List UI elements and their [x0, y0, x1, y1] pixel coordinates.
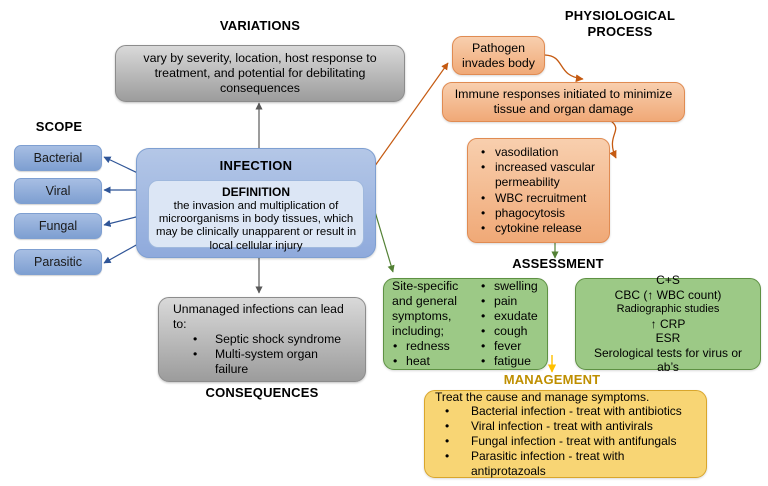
scope-item-label: Bacterial	[15, 151, 101, 165]
scope-item-bacterial[interactable]: Bacterial	[14, 145, 102, 171]
scope-item-viral[interactable]: Viral	[14, 178, 102, 204]
scope-item-label: Fungal	[15, 219, 101, 233]
test-item: ↑ CRP	[582, 317, 754, 332]
variations-box: vary by severity, location, host respons…	[115, 45, 405, 102]
list-item: vasodilation	[478, 145, 599, 160]
list-item: heat	[392, 354, 476, 369]
arrow-immune-to-inflammatory	[611, 121, 616, 158]
list-item: Septic shock syndrome	[193, 332, 351, 347]
test-item: Serological tests for virus or ab’s	[582, 346, 754, 375]
consequences-intro: Unmanaged infections can lead to:	[173, 302, 351, 332]
assessment-symptoms-right-column: swelling pain exudate cough fever fatigu…	[480, 279, 538, 370]
variations-label: VARIATIONS	[175, 18, 345, 33]
physiological-process-label-line1: PHYSIOLOGICAL	[520, 8, 720, 23]
scope-label: SCOPE	[14, 119, 104, 134]
management-content: Treat the cause and manage symptoms. Bac…	[425, 390, 706, 479]
definition-box: DEFINITION the invasion and multiplicati…	[148, 180, 364, 248]
list-item: Multi-system organ failure	[193, 347, 351, 377]
test-item: Radiographic studies	[582, 302, 754, 317]
arrow-infection-to-symptoms	[373, 205, 393, 272]
assessment-symptoms-right-list: swelling pain exudate cough fever fatigu…	[480, 279, 538, 370]
list-item: Fungal infection - treat with antifungal…	[435, 434, 696, 449]
list-item: fatigue	[480, 354, 538, 369]
list-item: fever	[480, 339, 538, 354]
scope-item-fungal[interactable]: Fungal	[14, 213, 102, 239]
list-item: exudate	[480, 309, 538, 324]
list-item: Parasitic infection - treat with antipro…	[435, 449, 696, 479]
test-item: C+S	[582, 273, 754, 288]
immune-response-text: Immune responses initiated to minimize t…	[443, 87, 684, 116]
list-item: increased vascular permeability	[478, 160, 599, 190]
scope-item-parasitic[interactable]: Parasitic	[14, 249, 102, 275]
test-item: ESR	[582, 331, 754, 346]
management-label: MANAGEMENT	[472, 372, 632, 387]
consequences-list: Septic shock syndrome Multi-system organ…	[173, 332, 351, 377]
list-item: Bacterial infection - treat with antibio…	[435, 404, 696, 419]
definition-title: DEFINITION	[222, 185, 290, 199]
assessment-symptoms-left-list: redness heat	[392, 339, 476, 369]
arrow-pathogen-to-immune	[545, 55, 583, 79]
variations-text: vary by severity, location, host respons…	[116, 51, 404, 96]
list-item: pain	[480, 294, 538, 309]
list-item: redness	[392, 339, 476, 354]
inflammatory-effects-list: vasodilation increased vascular permeabi…	[468, 145, 609, 236]
list-item: cytokine release	[478, 221, 599, 236]
scope-item-label: Parasitic	[15, 255, 101, 269]
assessment-tests-box: C+S CBC (↑ WBC count) Radiographic studi…	[575, 278, 761, 370]
assessment-symptoms-intro: Site-specific and general symptoms, incl…	[392, 279, 476, 339]
infection-box: INFECTION DEFINITION the invasion and mu…	[136, 148, 376, 258]
assessment-tests-content: C+S CBC (↑ WBC count) Radiographic studi…	[576, 273, 760, 375]
list-item: swelling	[480, 279, 538, 294]
immune-response-box: Immune responses initiated to minimize t…	[442, 82, 685, 122]
list-item: WBC recruitment	[478, 191, 599, 206]
management-intro: Treat the cause and manage symptoms.	[435, 390, 696, 405]
test-item: CBC (↑ WBC count)	[582, 288, 754, 303]
assessment-label: ASSESSMENT	[478, 256, 638, 271]
scope-item-label: Viral	[15, 184, 101, 198]
consequences-text: Unmanaged infections can lead to: Septic…	[159, 302, 365, 377]
definition-text: the invasion and multiplication of micro…	[149, 200, 363, 253]
pathogen-invades-text: Pathogen invades body	[453, 41, 544, 70]
management-box: Treat the cause and manage symptoms. Bac…	[424, 390, 707, 478]
consequences-box: Unmanaged infections can lead to: Septic…	[158, 297, 366, 382]
pathogen-invades-box: Pathogen invades body	[452, 36, 545, 75]
list-item: cough	[480, 324, 538, 339]
management-list: Bacterial infection - treat with antibio…	[435, 404, 696, 478]
diagram-canvas: VARIATIONS vary by severity, location, h…	[0, 0, 768, 486]
list-item: Viral infection - treat with antivirals	[435, 419, 696, 434]
list-item: phagocytosis	[478, 206, 599, 221]
physiological-process-label-line2: PROCESS	[520, 24, 720, 39]
assessment-symptoms-content: Site-specific and general symptoms, incl…	[384, 279, 547, 370]
assessment-symptoms-intro-column: Site-specific and general symptoms, incl…	[392, 279, 476, 370]
consequences-label: CONSEQUENCES	[172, 385, 352, 400]
inflammatory-effects-box: vasodilation increased vascular permeabi…	[467, 138, 610, 243]
infection-title: INFECTION	[220, 158, 293, 173]
assessment-symptoms-box: Site-specific and general symptoms, incl…	[383, 278, 548, 370]
